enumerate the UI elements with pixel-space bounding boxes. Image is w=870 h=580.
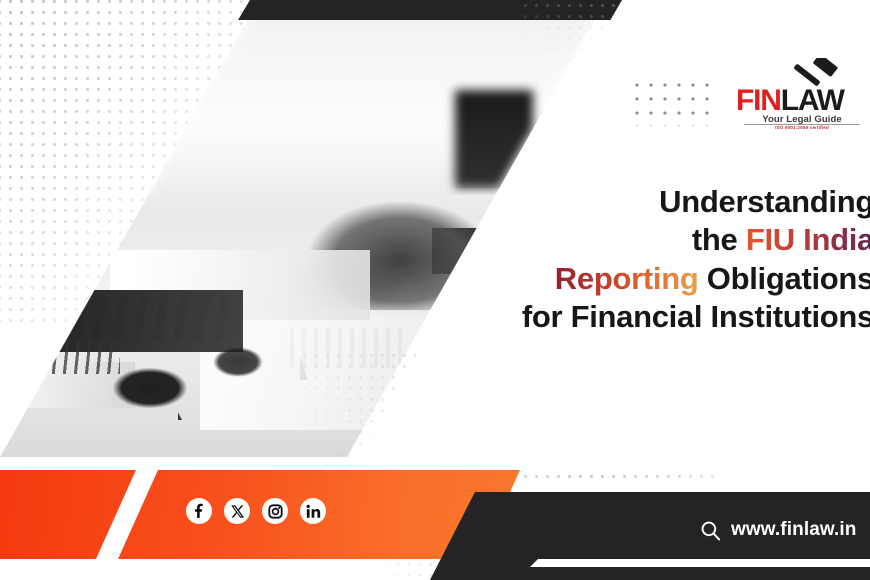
social-links xyxy=(186,498,326,524)
facebook-icon[interactable] xyxy=(186,498,212,524)
x-twitter-icon[interactable] xyxy=(224,498,250,524)
logo-wordmark: FINLAW xyxy=(736,86,868,116)
x-twitter-glyph xyxy=(230,504,245,519)
logo-fin-text: FIN xyxy=(736,84,781,117)
headline-line-1: Understanding xyxy=(354,183,870,221)
footer-dark-panel-notch xyxy=(530,559,870,567)
website-url-text: www.finlaw.in xyxy=(731,519,857,541)
headline-line-3: Reporting Obligations xyxy=(354,260,870,298)
headline-line-2: the FIU India xyxy=(354,221,870,259)
linkedin-icon[interactable] xyxy=(300,498,326,524)
headline-line-2-plain: the xyxy=(692,222,746,257)
website-url[interactable]: www.finlaw.in xyxy=(700,519,857,541)
logo-law-text: LAW xyxy=(781,84,844,117)
headline-line-2-accent: FIU India xyxy=(746,222,870,257)
logo-certification: ISO 9001:2008 certified xyxy=(736,125,868,130)
logo-tagline: Your Legal Guide xyxy=(736,114,868,125)
dot-grid-beside-logo xyxy=(630,78,716,126)
linkedin-glyph xyxy=(306,504,321,519)
headline-line-4: for Financial Institutions xyxy=(354,298,870,336)
page-title: Understanding the FIU India Reporting Ob… xyxy=(354,183,870,337)
banner: FINLAW Your Legal Guide ISO 9001:2008 ce… xyxy=(0,0,870,580)
headline-line-3-plain: Obligations xyxy=(698,261,870,296)
facebook-glyph xyxy=(191,503,207,519)
instagram-glyph xyxy=(268,504,283,519)
headline-line-3-accent: Reporting xyxy=(555,261,699,296)
instagram-icon[interactable] xyxy=(262,498,288,524)
finlaw-logo[interactable]: FINLAW Your Legal Guide ISO 9001:2008 ce… xyxy=(736,58,868,132)
search-icon xyxy=(700,520,721,541)
